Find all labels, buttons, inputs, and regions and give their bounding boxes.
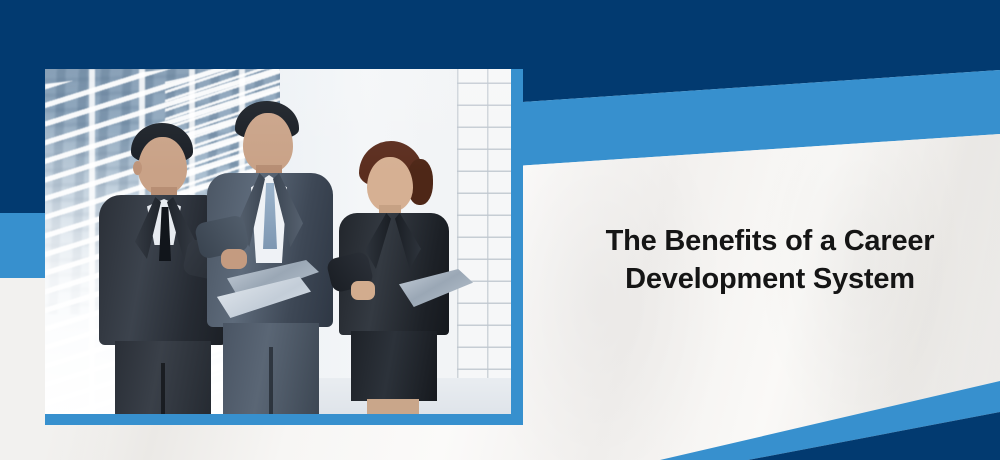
page-title: The Benefits of a Career Development Sys…	[560, 222, 980, 299]
trouser-gap	[269, 347, 273, 414]
photo-scene	[45, 69, 511, 414]
ear	[133, 161, 142, 175]
hand	[221, 249, 247, 269]
white-brick-wall	[457, 69, 511, 414]
hand	[351, 281, 375, 300]
head	[367, 157, 413, 212]
skirt	[351, 331, 437, 401]
career-development-banner: The Benefits of a Career Development Sys…	[0, 0, 1000, 460]
headline-line-1: The Benefits of a Career	[560, 222, 980, 260]
blue-left-block	[0, 213, 46, 278]
team-photo	[45, 69, 511, 414]
businessman-center	[203, 101, 335, 414]
trouser-gap	[161, 363, 165, 414]
headline-line-2: Development System	[560, 260, 980, 298]
head	[243, 113, 293, 173]
legs	[367, 399, 419, 414]
cream-left-block	[0, 278, 46, 460]
